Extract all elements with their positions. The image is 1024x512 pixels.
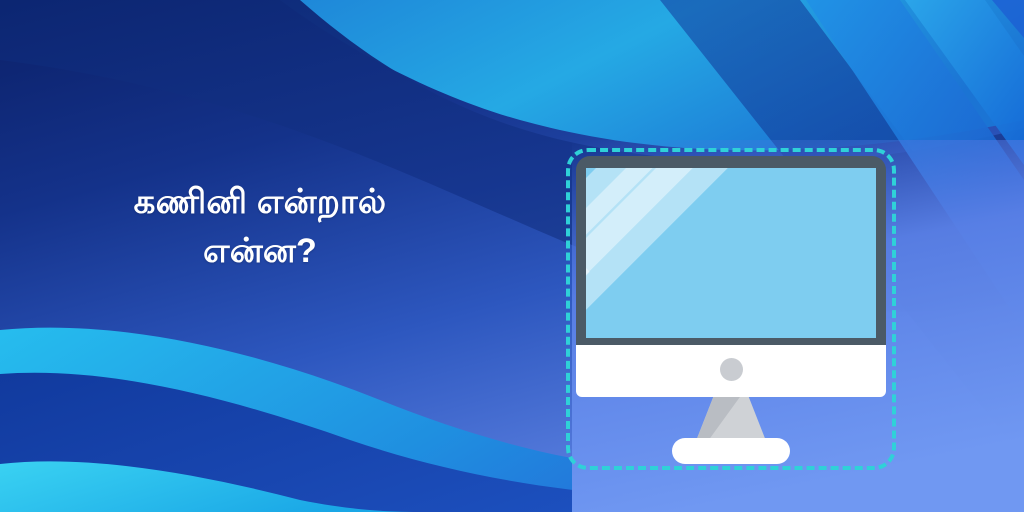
page-title: கணினி என்றால் என்ன?	[40, 178, 480, 277]
computer-monitor-illustration	[566, 148, 896, 470]
monitor-chin	[576, 345, 886, 397]
monitor-power-dot-icon	[720, 358, 743, 381]
screen-glare-stripe	[586, 168, 787, 338]
banner-root: கணினி என்றால் என்ன?	[0, 0, 1024, 512]
monitor-base-foot	[672, 438, 790, 464]
monitor-screen	[586, 168, 876, 338]
